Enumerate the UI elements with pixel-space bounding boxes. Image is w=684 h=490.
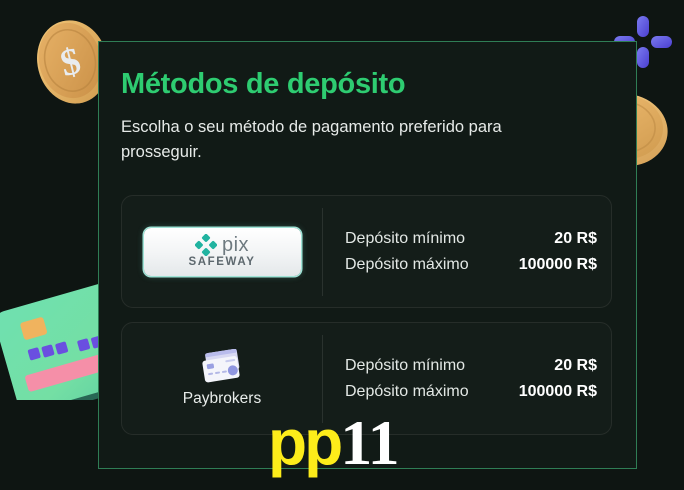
method-logo-column: Paybrokers — [122, 349, 322, 408]
deposit-methods-panel: Métodos de depósito Escolha o seu método… — [98, 41, 637, 469]
max-deposit-row: Depósito máximo 100000 R$ — [345, 379, 597, 405]
pix-safeway-label: SAFEWAY — [188, 257, 255, 269]
page-subtitle: Escolha o seu método de pagamento prefer… — [121, 115, 561, 166]
brand-watermark: pp11 — [268, 410, 399, 475]
min-deposit-value: 20 R$ — [554, 353, 597, 379]
max-deposit-label: Depósito máximo — [345, 379, 469, 405]
max-deposit-value: 100000 R$ — [519, 252, 597, 278]
pix-logo-top: pix — [195, 234, 249, 256]
max-deposit-value: 100000 R$ — [519, 379, 597, 405]
min-deposit-row: Depósito mínimo 20 R$ — [345, 226, 597, 252]
max-deposit-label: Depósito máximo — [345, 252, 469, 278]
page-title: Métodos de depósito — [121, 69, 612, 101]
min-deposit-row: Depósito mínimo 20 R$ — [345, 353, 597, 379]
method-deposit-limits: Depósito mínimo 20 R$ Depósito máximo 10… — [323, 226, 611, 278]
pix-logo: pix SAFEWAY — [144, 228, 301, 276]
card-stack-icon — [198, 349, 246, 383]
method-deposit-limits: Depósito mínimo 20 R$ Depósito máximo 10… — [323, 353, 611, 405]
min-deposit-label: Depósito mínimo — [345, 353, 465, 379]
min-deposit-label: Depósito mínimo — [345, 226, 465, 252]
payment-methods-list: pix SAFEWAY Depósito mínimo 20 R$ Depósi… — [121, 195, 612, 435]
watermark-pp: pp — [268, 406, 340, 478]
method-name-label: Paybrokers — [183, 390, 261, 408]
min-deposit-value: 20 R$ — [554, 226, 597, 252]
svg-text:$: $ — [56, 40, 85, 85]
max-deposit-row: Depósito máximo 100000 R$ — [345, 252, 597, 278]
pix-diamond-icon — [195, 234, 217, 256]
method-logo-column: pix SAFEWAY — [122, 228, 322, 276]
payment-method-pix-safeway[interactable]: pix SAFEWAY Depósito mínimo 20 R$ Depósi… — [121, 195, 612, 308]
watermark-11: 11 — [340, 407, 398, 478]
pix-wordmark: pix — [222, 235, 249, 255]
